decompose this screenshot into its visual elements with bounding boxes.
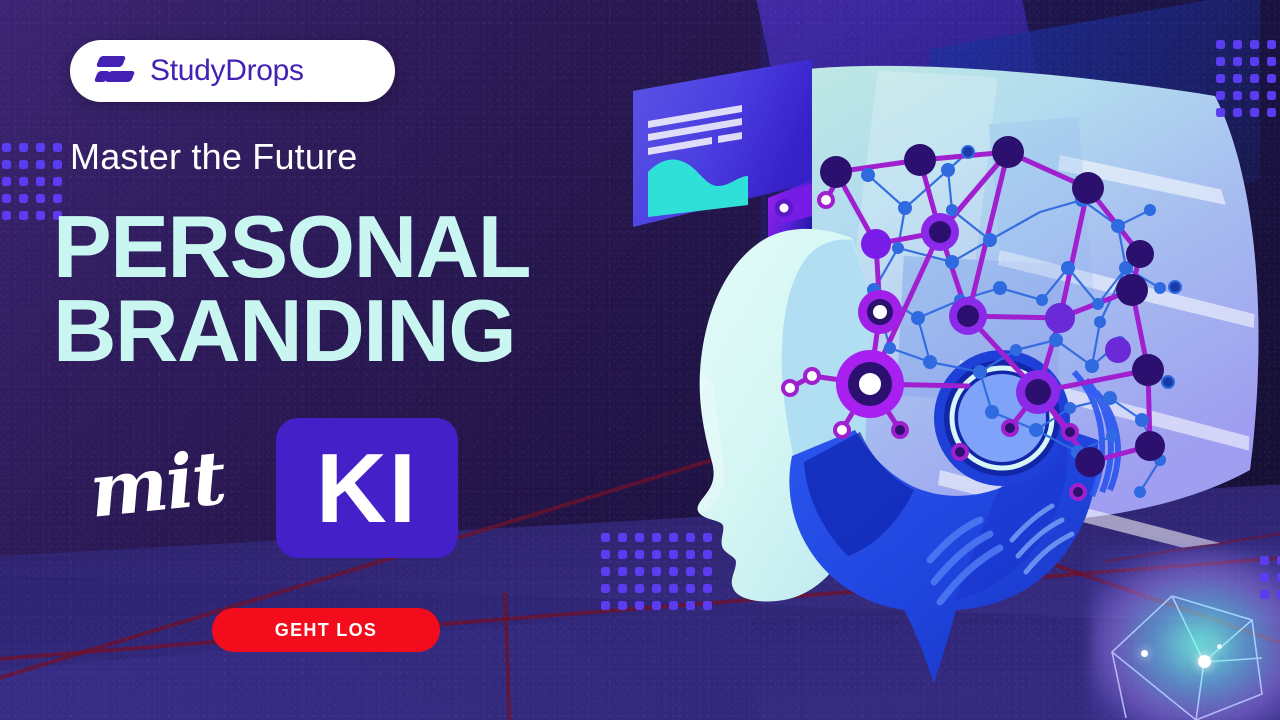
chest-emblem-ring xyxy=(934,350,1070,486)
hero-kicker: Master the Future xyxy=(70,136,358,178)
brand-name: StudyDrops xyxy=(150,54,304,88)
dot-grid-bottom-right xyxy=(1260,556,1280,599)
dot-grid-top-right xyxy=(1216,40,1280,117)
stacked-bars-icon xyxy=(96,54,136,88)
headline-line-2: BRANDING xyxy=(53,289,673,373)
glow-dot-small-2 xyxy=(1217,644,1222,649)
page-title: PERSONAL BRANDING xyxy=(53,205,673,372)
cta-button[interactable]: GEHT LOS xyxy=(212,608,440,652)
poster-canvas: StudyDrops Master the Future PERSONAL BR… xyxy=(0,0,1280,720)
dot-grid-center xyxy=(601,533,712,610)
glow-orb xyxy=(1090,545,1280,720)
glow-dot-large xyxy=(1198,655,1211,668)
brand-logo-pill[interactable]: StudyDrops xyxy=(70,40,395,102)
ki-badge: KI xyxy=(276,418,458,558)
script-word-mit: mit xyxy=(57,420,257,549)
ki-badge-label: KI xyxy=(316,439,418,537)
glow-dot-small-1 xyxy=(1141,650,1148,657)
